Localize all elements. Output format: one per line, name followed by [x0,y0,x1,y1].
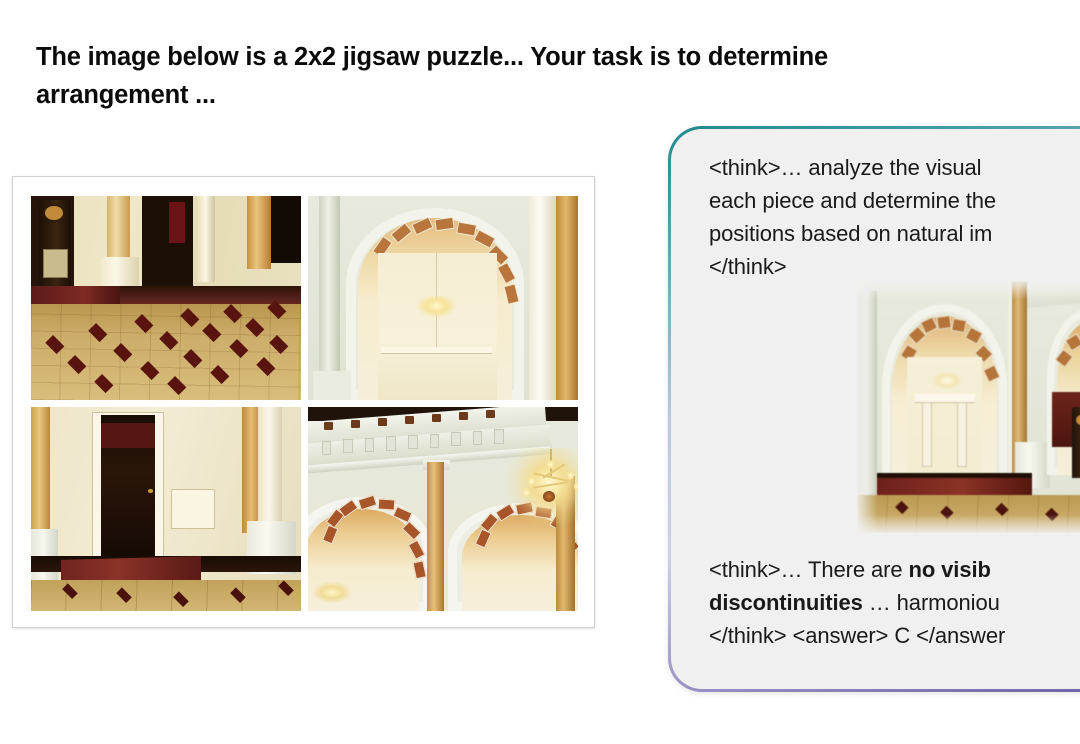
page-title: The image below is a 2x2 jigsaw puzzle..… [36,38,1080,114]
think-block-bottom: <think>… There are no visib discontinuit… [709,553,1005,652]
think-top-line-1: <think>… analyze the visual [709,151,996,184]
puzzle-image-card [12,176,595,628]
think-block-top: <think>… analyze the visual each piece a… [709,151,996,283]
puzzle-tile-bottom-right[interactable] [308,407,578,611]
right-marble-column [556,196,578,400]
baluster [365,438,375,452]
dentil [378,418,387,426]
think-bottom-line-2-bold: discontinuities [709,590,863,615]
dentil [324,422,333,430]
arch-voussoir [936,315,951,329]
wall-panel [43,249,67,278]
puzzle-tile-bottom-left[interactable] [31,407,301,611]
dark-corner [271,196,301,263]
dark-doorway [142,196,193,294]
baluster [386,436,396,450]
chandelier-bulb [523,488,530,497]
page-title-line-1: The image below is a 2x2 jigsaw puzzle..… [36,38,1080,76]
pilaster-base [313,371,351,400]
reassembled-interior-photo [857,281,1080,533]
model-response-card: <think>… analyze the visual each piece a… [668,126,1080,692]
arch-voussoir [378,498,395,511]
chandelier-glow [416,296,457,318]
mantel-shelf [381,347,492,353]
small-chandelier-glow [313,582,351,602]
mantel-leg [922,402,932,468]
marble-column-right [247,196,271,269]
baluster [430,434,440,448]
think-top-line-3: positions based on natural im [709,217,996,250]
baluster [451,432,461,446]
left-pilaster [319,196,341,400]
dentil [405,416,414,424]
think-bottom-line-1-plain: <think>… There are [709,557,908,582]
reassembled-image [857,281,1080,533]
model-response-body: <think>… analyze the visual each piece a… [671,129,1080,689]
puzzle-tile-top-left[interactable] [31,196,301,400]
think-bottom-line-3: </think> <answer> C </answer [709,619,1005,652]
baluster [322,441,332,455]
chandelier-icon [416,296,457,318]
mantel-shelf [915,394,975,402]
mantel-leg [957,402,967,468]
arch-back-wall [378,253,497,400]
dentil [486,410,495,418]
clock-face [1076,415,1080,425]
think-bottom-line-1: <think>… There are no visib [709,553,1005,586]
page-title-line-2: arrangement ... [36,76,1080,114]
wall-sconce [932,372,962,390]
think-bottom-line-2: discontinuities … harmoniou [709,586,1005,619]
puzzle-tile-top-right[interactable] [308,196,578,400]
dentil [432,414,441,422]
door-handle [148,489,152,493]
white-column [196,196,215,282]
think-bottom-line-2-plain: … harmoniou [863,590,1000,615]
think-top-line-4: </think> [709,250,996,283]
right-pilaster [529,196,556,400]
dentil [351,420,360,428]
wall-wainscot-panel [171,489,214,530]
door-red-glass [101,423,155,447]
chandelier-icon [508,448,578,526]
baluster [494,429,504,443]
red-drape [169,202,185,243]
think-bottom-line-1-bold: no visib [908,557,990,582]
checkerboard-floor [31,304,301,400]
baluster [343,439,353,453]
arch-voussoir [951,318,966,333]
chandelier-bulb [567,471,574,480]
jigsaw-2x2-grid [31,196,578,611]
center-marble-pillar [427,462,445,611]
dentil [459,412,468,420]
baluster [408,435,418,449]
chandelier-bulb [574,482,578,491]
baluster [473,431,483,445]
think-top-line-2: each piece and determine the [709,184,996,217]
